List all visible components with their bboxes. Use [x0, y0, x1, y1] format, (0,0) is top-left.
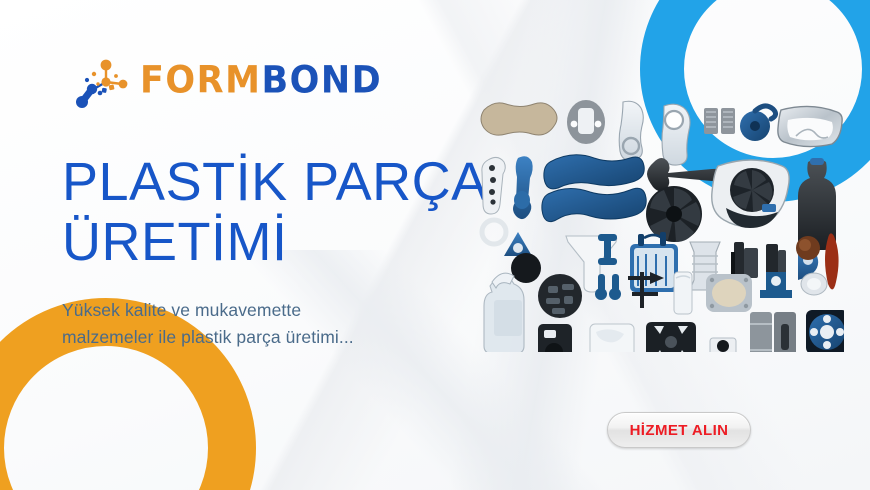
collage-item-siyah-desenli-disk — [538, 274, 582, 318]
headline-line-2: ÜRETİMİ — [62, 212, 492, 272]
collage-item-mavi-u-braket — [760, 272, 792, 298]
collage-item-mavi-organik-parca-1 — [544, 155, 644, 189]
collage-item-seffaf-sprey-sise — [484, 273, 524, 352]
collage-item-siyah-disk — [511, 253, 541, 283]
brand-wordmark-form: FORM — [140, 59, 261, 101]
collage-item-bej-dalgali-panel — [481, 103, 557, 135]
collage-item-gri-yuvarlak-kapak — [801, 273, 827, 295]
collage-item-siyah-fan-pervanesi — [646, 186, 702, 242]
page-title: PLASTİK PARÇAÜRETİMİ — [62, 152, 492, 273]
collage-item-gri-ray-2 — [774, 312, 796, 352]
collage-item-gri-izgara-plaka — [704, 108, 735, 134]
subtitle-line-1: Yüksek kalite ve mukavemette — [62, 300, 301, 320]
collage-item-siyah-vesa-plaka — [646, 322, 696, 352]
collage-item-gri-ray-1 — [750, 312, 772, 352]
collage-item-siyah-kapak-modulu — [538, 324, 572, 352]
collage-item-kucuk-siyah-braket — [710, 338, 736, 352]
collage-item-siyah-mil-parcasi — [647, 158, 722, 191]
collage-item-beyaz-kutu — [590, 324, 634, 352]
collage-item-mavi-kasik-kol — [513, 156, 533, 219]
subtitle-line-2: malzemeler ile plastik parça üretimi... — [62, 324, 462, 351]
hero-subtitle: Yüksek kalite ve mukavemettemalzemeler i… — [62, 297, 462, 351]
collage-item-ayna-fan-modulu — [712, 160, 789, 228]
collage-item-seffaf-kol-parcasi — [619, 101, 643, 160]
brand-wordmark: FORMBOND — [140, 62, 382, 99]
collage-item-beyaz-rulo — [674, 272, 692, 314]
collage-item-mavi-ucgen-baglanti — [504, 232, 532, 256]
collage-item-mavi-rozet-plaka — [806, 310, 844, 352]
collage-item-krom-far-cercevesi — [778, 106, 842, 146]
collage-item-beyaz-benekli-kol — [482, 157, 505, 214]
headline-line-1: PLASTİK PARÇA — [62, 152, 488, 212]
collage-item-mavi-organik-parca-2 — [542, 188, 646, 221]
hizmet-alin-button[interactable]: HİZMET ALIN — [607, 412, 751, 448]
collage-item-mavi-yuvarlak-kapak — [740, 106, 776, 141]
promo-banner: FORMBOND PLASTİK PARÇAÜRETİMİ Yüksek kal… — [0, 0, 870, 490]
brand-wordmark-bond: BOND — [261, 59, 382, 101]
product-collage-image — [478, 96, 844, 352]
collage-item-gri-oval-braket — [567, 100, 605, 144]
molecule-node-icon — [72, 52, 134, 110]
product-collage-canvas — [478, 96, 844, 352]
collage-item-seffaf-halkali-kol — [662, 104, 690, 165]
collage-item-kahve-yuvarlak-dugme — [796, 236, 820, 260]
brand-logo[interactable]: FORMBOND — [72, 52, 382, 110]
collage-item-beyaz-halka — [482, 220, 506, 244]
collage-item-bej-oval-kapak — [706, 274, 752, 312]
